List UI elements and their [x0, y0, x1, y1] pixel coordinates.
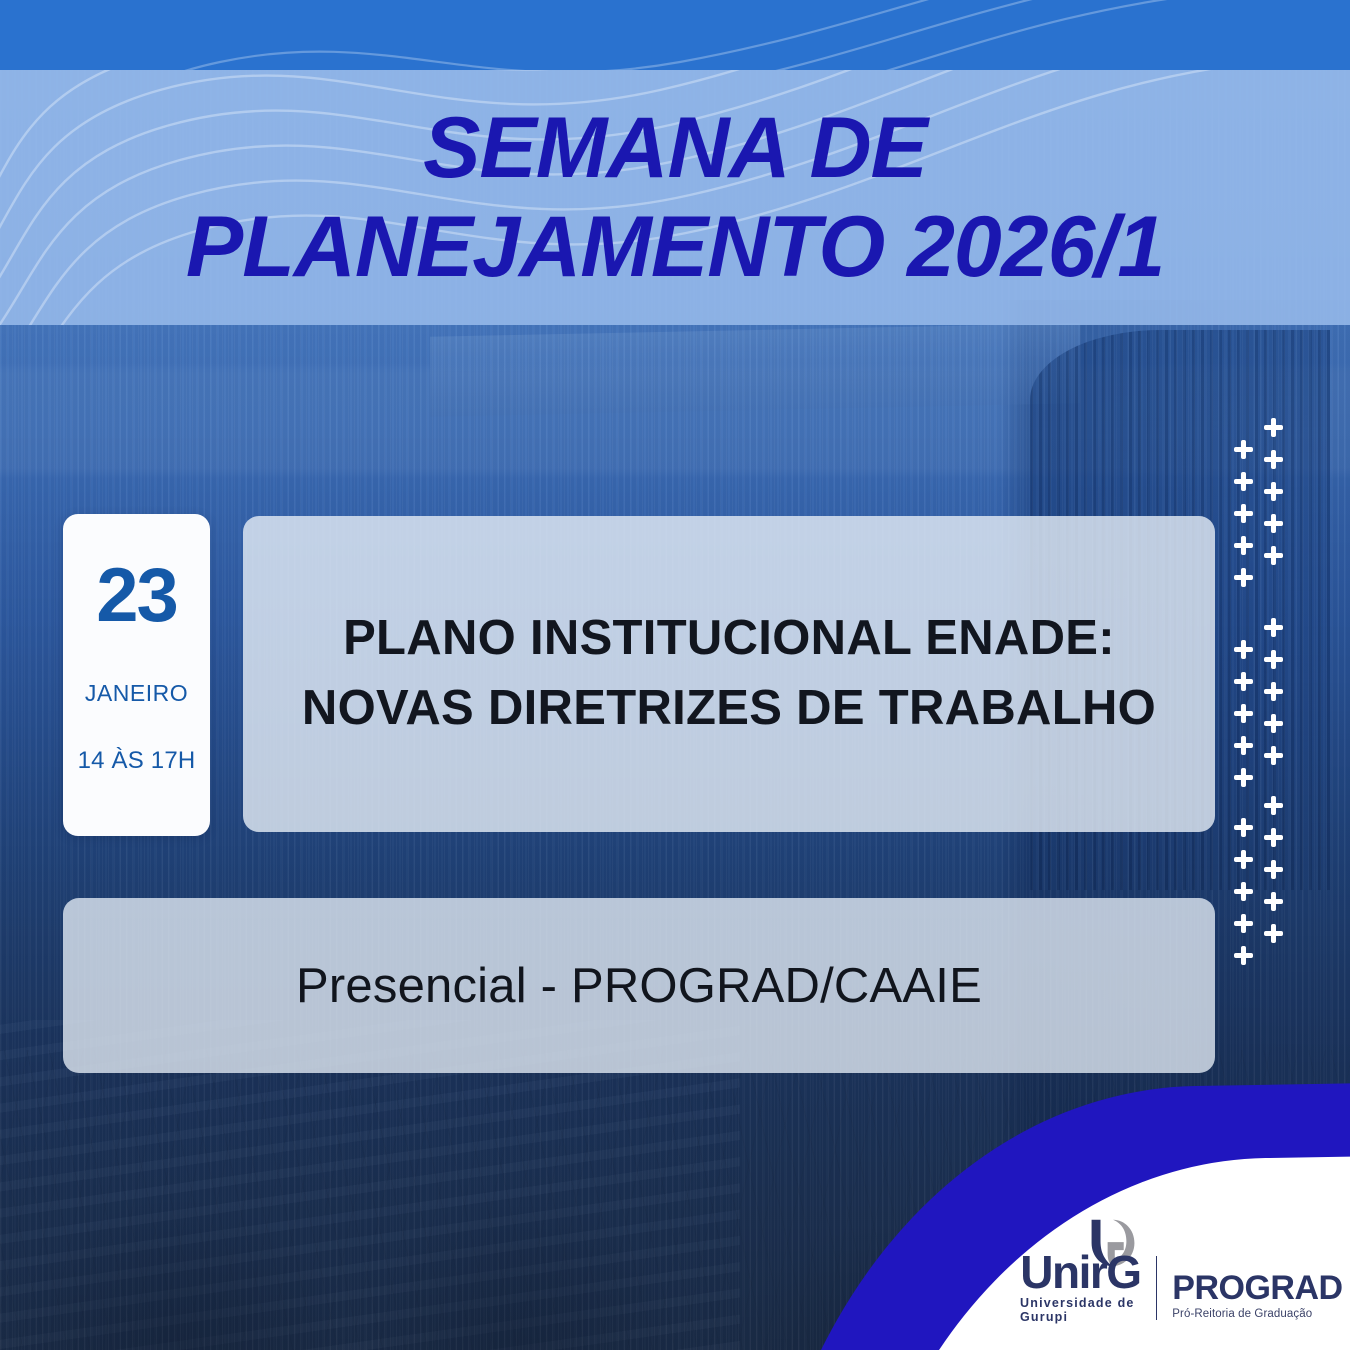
- plus-icon: [1264, 514, 1283, 533]
- plus-decoration-group: [1234, 418, 1308, 948]
- plus-icon: [1264, 828, 1283, 847]
- event-month: JANEIRO: [85, 680, 188, 707]
- plus-icon: [1264, 650, 1283, 669]
- plus-icon: [1264, 682, 1283, 701]
- plus-icon: [1234, 672, 1253, 691]
- plus-icon: [1264, 924, 1283, 943]
- plus-icon: [1264, 714, 1283, 733]
- plus-icon: [1264, 450, 1283, 469]
- logo-corner: UnirG Universidade de Gurupi PROGRAD Pró…: [730, 1060, 1350, 1350]
- event-title-line-1: PLANO INSTITUCIONAL ENADE:: [343, 604, 1115, 674]
- header-top-band: [0, 0, 1350, 70]
- plus-icon: [1234, 818, 1253, 837]
- event-time: 14 ÀS 17H: [78, 747, 196, 775]
- plus-icon: [1234, 914, 1253, 933]
- logo-text-row: UnirG Universidade de Gurupi PROGRAD Pró…: [1020, 1250, 1343, 1324]
- logo-university-sub: Universidade de Gurupi: [1020, 1296, 1141, 1324]
- event-modality-card: Presencial - PROGRAD/CAAIE: [63, 898, 1215, 1073]
- plus-icon: [1264, 860, 1283, 879]
- plus-icon: [1234, 850, 1253, 869]
- plus-icon: [1264, 418, 1283, 437]
- plus-icon: [1234, 472, 1253, 491]
- plus-icon: [1234, 882, 1253, 901]
- logo-university-name: UnirG: [1020, 1250, 1140, 1294]
- logo-unit-name: PROGRAD: [1172, 1271, 1342, 1305]
- institution-logo: UnirG Universidade de Gurupi PROGRAD Pró…: [1020, 1222, 1320, 1332]
- logo-unit-block: PROGRAD Pró-Reitoria de Graduação: [1172, 1271, 1342, 1324]
- plus-icon: [1234, 736, 1253, 755]
- plus-icon: [1264, 482, 1283, 501]
- plus-icon: [1234, 440, 1253, 459]
- plus-icon: [1234, 704, 1253, 723]
- poster-title-line-2: PLANEJAMENTO 2026/1: [186, 198, 1164, 296]
- event-modality-text: Presencial - PROGRAD/CAAIE: [296, 958, 982, 1014]
- plus-icon: [1234, 640, 1253, 659]
- plus-icon: [1264, 892, 1283, 911]
- event-date-card: 23 JANEIRO 14 ÀS 17H: [63, 514, 210, 836]
- plus-icon: [1234, 768, 1253, 787]
- poster-title-line-1: SEMANA DE: [423, 99, 927, 197]
- plus-icon: [1264, 618, 1283, 637]
- logo-divider: [1156, 1256, 1157, 1320]
- header-wave-lines-top: [0, 0, 1350, 70]
- plus-icon: [1264, 746, 1283, 765]
- event-day: 23: [96, 558, 177, 634]
- plus-icon: [1264, 546, 1283, 565]
- plus-icon: [1234, 536, 1253, 555]
- poster-title: SEMANA DE PLANEJAMENTO 2026/1: [0, 70, 1350, 325]
- logo-university-block: UnirG Universidade de Gurupi: [1020, 1250, 1141, 1324]
- logo-unit-sub: Pró-Reitoria de Graduação: [1172, 1308, 1312, 1320]
- event-poster: SEMANA DE PLANEJAMENTO 2026/1: [0, 0, 1350, 1350]
- event-title-line-2: NOVAS DIRETRIZES DE TRABALHO: [302, 674, 1156, 744]
- plus-icon: [1234, 946, 1253, 965]
- plus-icon: [1234, 568, 1253, 587]
- plus-icon: [1264, 796, 1283, 815]
- event-title-card: PLANO INSTITUCIONAL ENADE: NOVAS DIRETRI…: [243, 516, 1215, 832]
- plus-icon: [1234, 504, 1253, 523]
